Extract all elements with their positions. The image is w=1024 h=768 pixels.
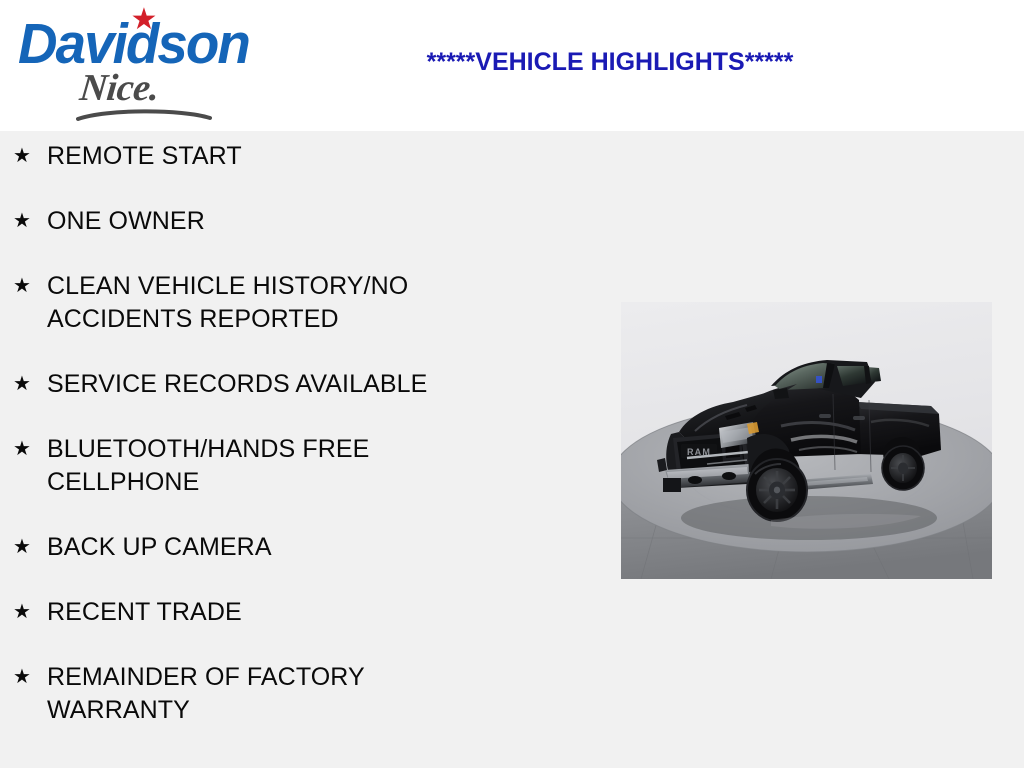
- dealer-logo[interactable]: Davidson ★ Nice.: [18, 6, 280, 124]
- list-item-label: REMOTE START: [47, 140, 560, 173]
- list-item-label: REMAINDER OF FACTORY WARRANTY: [47, 661, 560, 727]
- logo-swoosh-icon: [76, 106, 212, 122]
- list-item: ★ REMOTE START: [0, 140, 560, 173]
- page-header: Davidson ★ Nice. *****VEHICLE HIGHLIGHTS…: [0, 0, 1024, 131]
- list-item: ★ SERVICE RECORDS AVAILABLE: [0, 368, 560, 401]
- dealer-logo-subtext: Nice.: [78, 68, 161, 108]
- list-item: ★ CLEAN VEHICLE HISTORY/NO ACCIDENTS REP…: [0, 270, 560, 336]
- star-bullet-icon: ★: [13, 532, 31, 563]
- vehicle-highlights-list: ★ REMOTE START ★ ONE OWNER ★ CLEAN VEHIC…: [0, 140, 560, 727]
- list-item-label: SERVICE RECORDS AVAILABLE: [47, 368, 560, 401]
- page-title: *****VEHICLE HIGHLIGHTS*****: [300, 47, 920, 77]
- list-item-label: ONE OWNER: [47, 205, 560, 238]
- page-body: ★ REMOTE START ★ ONE OWNER ★ CLEAN VEHIC…: [0, 131, 1024, 768]
- star-icon: ★: [130, 6, 158, 34]
- vehicle-photo[interactable]: RAM: [621, 302, 992, 579]
- list-item-label: BACK UP CAMERA: [47, 531, 560, 564]
- list-item: ★ REMAINDER OF FACTORY WARRANTY: [0, 661, 560, 727]
- star-bullet-icon: ★: [13, 141, 31, 172]
- list-item: ★ BLUETOOTH/HANDS FREE CELLPHONE: [0, 433, 560, 499]
- list-item-label: RECENT TRADE: [47, 596, 560, 629]
- star-bullet-icon: ★: [13, 434, 31, 465]
- star-bullet-icon: ★: [13, 271, 31, 302]
- star-bullet-icon: ★: [13, 662, 31, 693]
- list-item: ★ ONE OWNER: [0, 205, 560, 238]
- star-bullet-icon: ★: [13, 206, 31, 237]
- star-bullet-icon: ★: [13, 369, 31, 400]
- list-item-label: CLEAN VEHICLE HISTORY/NO ACCIDENTS REPOR…: [47, 270, 560, 336]
- list-item-label: BLUETOOTH/HANDS FREE CELLPHONE: [47, 433, 560, 499]
- star-bullet-icon: ★: [13, 597, 31, 628]
- list-item: ★ RECENT TRADE: [0, 596, 560, 629]
- vehicle-highlights-page: Davidson ★ Nice. *****VEHICLE HIGHLIGHTS…: [0, 0, 1024, 768]
- list-item: ★ BACK UP CAMERA: [0, 531, 560, 564]
